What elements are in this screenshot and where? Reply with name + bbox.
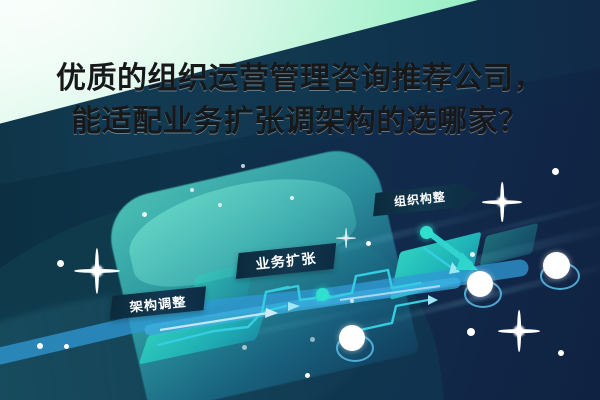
dot-12 bbox=[218, 203, 222, 207]
dot-9 bbox=[310, 337, 315, 342]
page-title: 优质的组织运营管理咨询推荐公司， 能适配业务扩张调架构的选哪家？ bbox=[0, 58, 600, 143]
dot-8 bbox=[350, 299, 354, 303]
dot-10 bbox=[142, 212, 147, 217]
poster-canvas: 优质的组织运营管理咨询推荐公司， 能适配业务扩张调架构的选哪家？ 架构调整 业务… bbox=[0, 0, 600, 400]
dot-4 bbox=[470, 252, 475, 257]
node-teal-upper bbox=[420, 226, 433, 239]
dot-17 bbox=[242, 345, 247, 350]
node-teal-hub bbox=[316, 288, 329, 301]
dot-14 bbox=[290, 196, 294, 200]
dot-13 bbox=[241, 164, 245, 168]
title-line-1: 优质的组织运营管理咨询推荐公司， bbox=[0, 58, 600, 101]
dot-5 bbox=[467, 328, 475, 336]
title-line-2: 能适配业务扩张调架构的选哪家？ bbox=[0, 101, 600, 144]
node-white-right bbox=[543, 252, 570, 279]
node-white-mid bbox=[467, 271, 493, 297]
tag-architecture-adjustment-label: 架构调整 bbox=[128, 291, 187, 315]
dot-15 bbox=[552, 168, 559, 175]
tag-business-expansion-label: 业务扩张 bbox=[254, 248, 317, 274]
dot-11 bbox=[190, 188, 194, 192]
dot-6 bbox=[558, 350, 564, 356]
dot-2 bbox=[37, 343, 43, 349]
dot-3 bbox=[64, 344, 69, 349]
dot-16 bbox=[366, 241, 371, 246]
dot-7 bbox=[305, 373, 310, 378]
node-white-left bbox=[339, 325, 365, 351]
dot-1 bbox=[57, 260, 64, 267]
